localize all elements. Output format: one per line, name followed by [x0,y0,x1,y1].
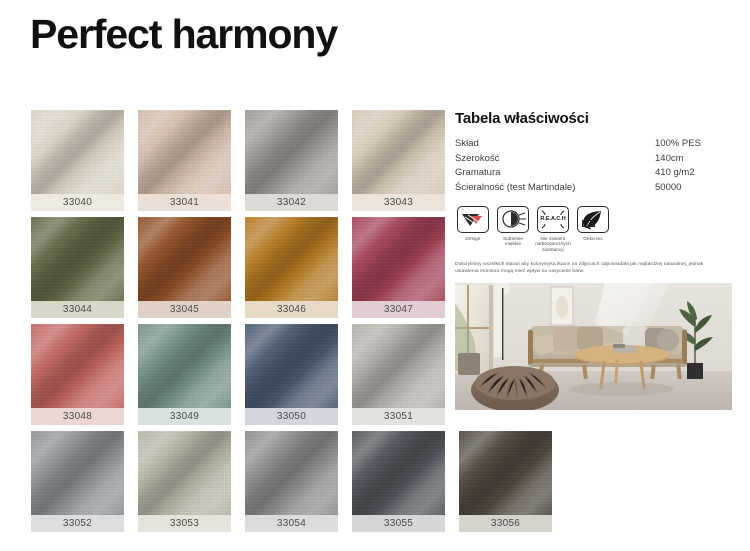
swatch-weave-texture [352,110,445,194]
swatch-fabric-image [138,110,231,194]
interior-photo [455,283,732,410]
swatch-fabric-image [138,431,231,515]
oeko-tex-leaf-icon: ECO [577,206,609,233]
reach-label: R.E.A.C.H [538,216,568,222]
properties-heading: Tabela właściwości [455,110,735,127]
design-icon [457,206,489,233]
swatch-grid: 3304033041330423304333044330453304633047… [31,110,451,538]
swatch-fabric-image [245,431,338,515]
swatch-weave-texture [245,110,338,194]
swatch-code-label: 33052 [31,515,124,532]
swatch-fabric-image [352,324,445,408]
swatch-weave-texture [245,431,338,515]
swatch-row: 3305233053330543305533056 [31,431,451,538]
certification-badges: DesignSubtelnie miękkieR.E.A.C.HNie zawi… [455,206,735,252]
property-value: 100% PES [655,138,733,153]
swatch-code-label: 33042 [245,194,338,211]
badge-oeko-tex-leaf-icon: ECOOeko-tex [575,206,611,242]
swatch-fabric-image [352,431,445,515]
swatch-code-label: 33049 [138,408,231,425]
swatch-weave-texture [31,217,124,301]
swatch-code-label: 33050 [245,408,338,425]
swatch-33053[interactable]: 33053 [138,431,231,532]
swatch-fabric-image [245,217,338,301]
badge-label: Design [455,236,491,242]
swatch-fabric-image [245,110,338,194]
swatch-33049[interactable]: 33049 [138,324,231,425]
swatch-fabric-image [31,431,124,515]
swatch-code-label: 33056 [459,515,552,532]
swatch-weave-texture [352,217,445,301]
swatch-code-label: 33045 [138,301,231,318]
swatch-code-label: 33047 [352,301,445,318]
swatch-33044[interactable]: 33044 [31,217,124,318]
swatch-33054[interactable]: 33054 [245,431,338,532]
right-column: Tabela właściwości Skład100% PESSzerokoś… [455,110,735,297]
badge-label: Subtelnie miękkie [495,236,531,247]
swatch-code-label: 33048 [31,408,124,425]
badge-design-icon: Design [455,206,491,242]
swatch-33047[interactable]: 33047 [352,217,445,318]
swatch-code-label: 33055 [352,515,445,532]
properties-table-body: Skład100% PESSzerokość140cmGramatura410 … [455,138,733,197]
reach-icon: R.E.A.C.H [537,206,569,233]
swatch-code-label: 33054 [245,515,338,532]
swatch-weave-texture [31,431,124,515]
swatch-33056[interactable]: 33056 [459,431,552,532]
property-key: Gramatura [455,167,655,182]
badge-soft-touch-icon: Subtelnie miękkie [495,206,531,247]
property-row: Szerokość140cm [455,153,733,168]
swatch-weave-texture [352,431,445,515]
property-value: 50000 [655,182,733,197]
swatch-33055[interactable]: 33055 [352,431,445,532]
swatch-fabric-image [138,217,231,301]
property-key: Skład [455,138,655,153]
property-row: Ścieralność (test Martindale)50000 [455,182,733,197]
swatch-code-label: 33053 [138,515,231,532]
swatch-33052[interactable]: 33052 [31,431,124,532]
property-value: 410 g/m2 [655,167,733,182]
swatch-row: 33048330493305033051 [31,324,451,431]
soft-touch-icon [497,206,529,233]
swatch-fabric-image [245,324,338,408]
swatch-weave-texture [459,431,552,515]
swatch-fabric-image [138,324,231,408]
interior-photo-illustration [455,283,732,410]
swatch-fabric-image [352,217,445,301]
disclaimer-paragraph-1: Dołożyliśmy wszelkich starań aby kolorys… [455,261,727,276]
swatch-weave-texture [352,324,445,408]
swatch-33046[interactable]: 33046 [245,217,338,318]
swatch-row: 33040330413304233043 [31,110,451,217]
pouf [471,366,559,410]
properties-table: Skład100% PESSzerokość140cmGramatura410 … [455,138,733,197]
swatch-fabric-image [352,110,445,194]
swatch-33042[interactable]: 33042 [245,110,338,211]
property-row: Skład100% PES [455,138,733,153]
page-title: Perfect harmony [30,14,337,55]
swatch-weave-texture [245,324,338,408]
property-key: Szerokość [455,153,655,168]
swatch-fabric-image [31,324,124,408]
swatch-row: 33044330453304633047 [31,217,451,324]
swatch-code-label: 33043 [352,194,445,211]
swatch-33051[interactable]: 33051 [352,324,445,425]
swatch-33050[interactable]: 33050 [245,324,338,425]
swatch-weave-texture [138,431,231,515]
swatch-fabric-image [31,217,124,301]
badge-label: Nie zawiera niebezpiecznych substancji [535,236,571,253]
swatch-weave-texture [138,324,231,408]
swatch-weave-texture [245,217,338,301]
swatch-fabric-image [31,110,124,194]
swatch-fabric-image [459,431,552,515]
property-value: 140cm [655,153,733,168]
swatch-33043[interactable]: 33043 [352,110,445,211]
swatch-code-label: 33044 [31,301,124,318]
property-row: Gramatura410 g/m2 [455,167,733,182]
swatch-weave-texture [31,324,124,408]
property-key: Ścieralność (test Martindale) [455,182,655,197]
swatch-weave-texture [138,110,231,194]
fabric-collection-page: Perfect harmony 330403304133042330433304… [0,0,750,551]
badge-label: Oeko-tex [575,236,611,242]
swatch-code-label: 33046 [245,301,338,318]
swatch-code-label: 33040 [31,194,124,211]
swatch-33040[interactable]: 33040 [31,110,124,211]
swatch-code-label: 33051 [352,408,445,425]
swatch-weave-texture [31,110,124,194]
swatch-33041[interactable]: 33041 [138,110,231,211]
swatch-code-label: 33041 [138,194,231,211]
swatch-33048[interactable]: 33048 [31,324,124,425]
badge-reach-icon: R.E.A.C.HNie zawiera niebezpiecznych sub… [535,206,571,253]
swatch-33045[interactable]: 33045 [138,217,231,318]
swatch-weave-texture [138,217,231,301]
eco-label: ECO [582,220,595,227]
